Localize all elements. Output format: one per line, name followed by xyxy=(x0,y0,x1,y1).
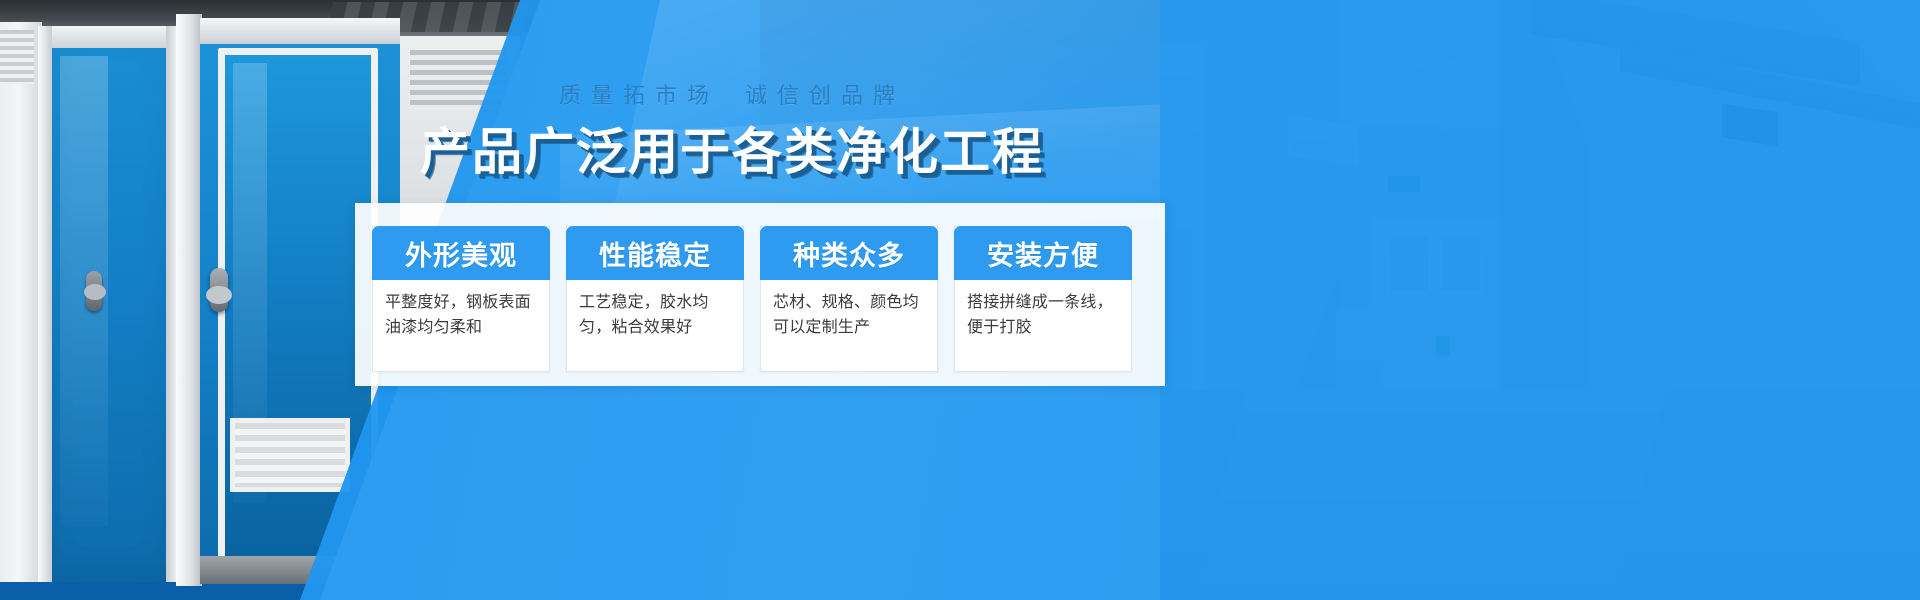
tagline-part-2: 诚信创品牌 xyxy=(745,83,905,108)
feature-card-4-title: 安装方便 xyxy=(954,226,1132,280)
features-row: 外形美观 平整度好，钢板表面油漆均匀柔和 性能稳定 工艺稳定，胶水均匀，粘合效果… xyxy=(372,226,1148,372)
promo-banner: 质量拓市场诚信创品牌 产品广泛用于各类净化工程 外形美观 平整度好，钢板表面油漆… xyxy=(0,0,1920,600)
feature-card-3[interactable]: 种类众多 芯材、规格、颜色均可以定制生产 xyxy=(760,226,938,372)
feature-card-3-body: 芯材、规格、颜色均可以定制生产 xyxy=(761,280,937,371)
banner-content: 质量拓市场诚信创品牌 产品广泛用于各类净化工程 外形美观 平整度好，钢板表面油漆… xyxy=(0,0,1920,600)
feature-card-2-body: 工艺稳定，胶水均匀，粘合效果好 xyxy=(567,280,743,371)
feature-card-1[interactable]: 外形美观 平整度好，钢板表面油漆均匀柔和 xyxy=(372,226,550,372)
feature-card-2-title: 性能稳定 xyxy=(566,226,744,280)
page-title: 产品广泛用于各类净化工程 xyxy=(352,112,1112,184)
feature-card-1-title: 外形美观 xyxy=(372,226,550,280)
tagline-part-1: 质量拓市场 xyxy=(559,83,719,108)
tagline: 质量拓市场诚信创品牌 xyxy=(352,78,1112,110)
feature-card-4-body: 搭接拼缝成一条线，便于打胶 xyxy=(955,280,1131,371)
feature-card-3-title: 种类众多 xyxy=(760,226,938,280)
feature-card-4[interactable]: 安装方便 搭接拼缝成一条线，便于打胶 xyxy=(954,226,1132,372)
feature-card-2[interactable]: 性能稳定 工艺稳定，胶水均匀，粘合效果好 xyxy=(566,226,744,372)
feature-card-1-body: 平整度好，钢板表面油漆均匀柔和 xyxy=(373,280,549,371)
